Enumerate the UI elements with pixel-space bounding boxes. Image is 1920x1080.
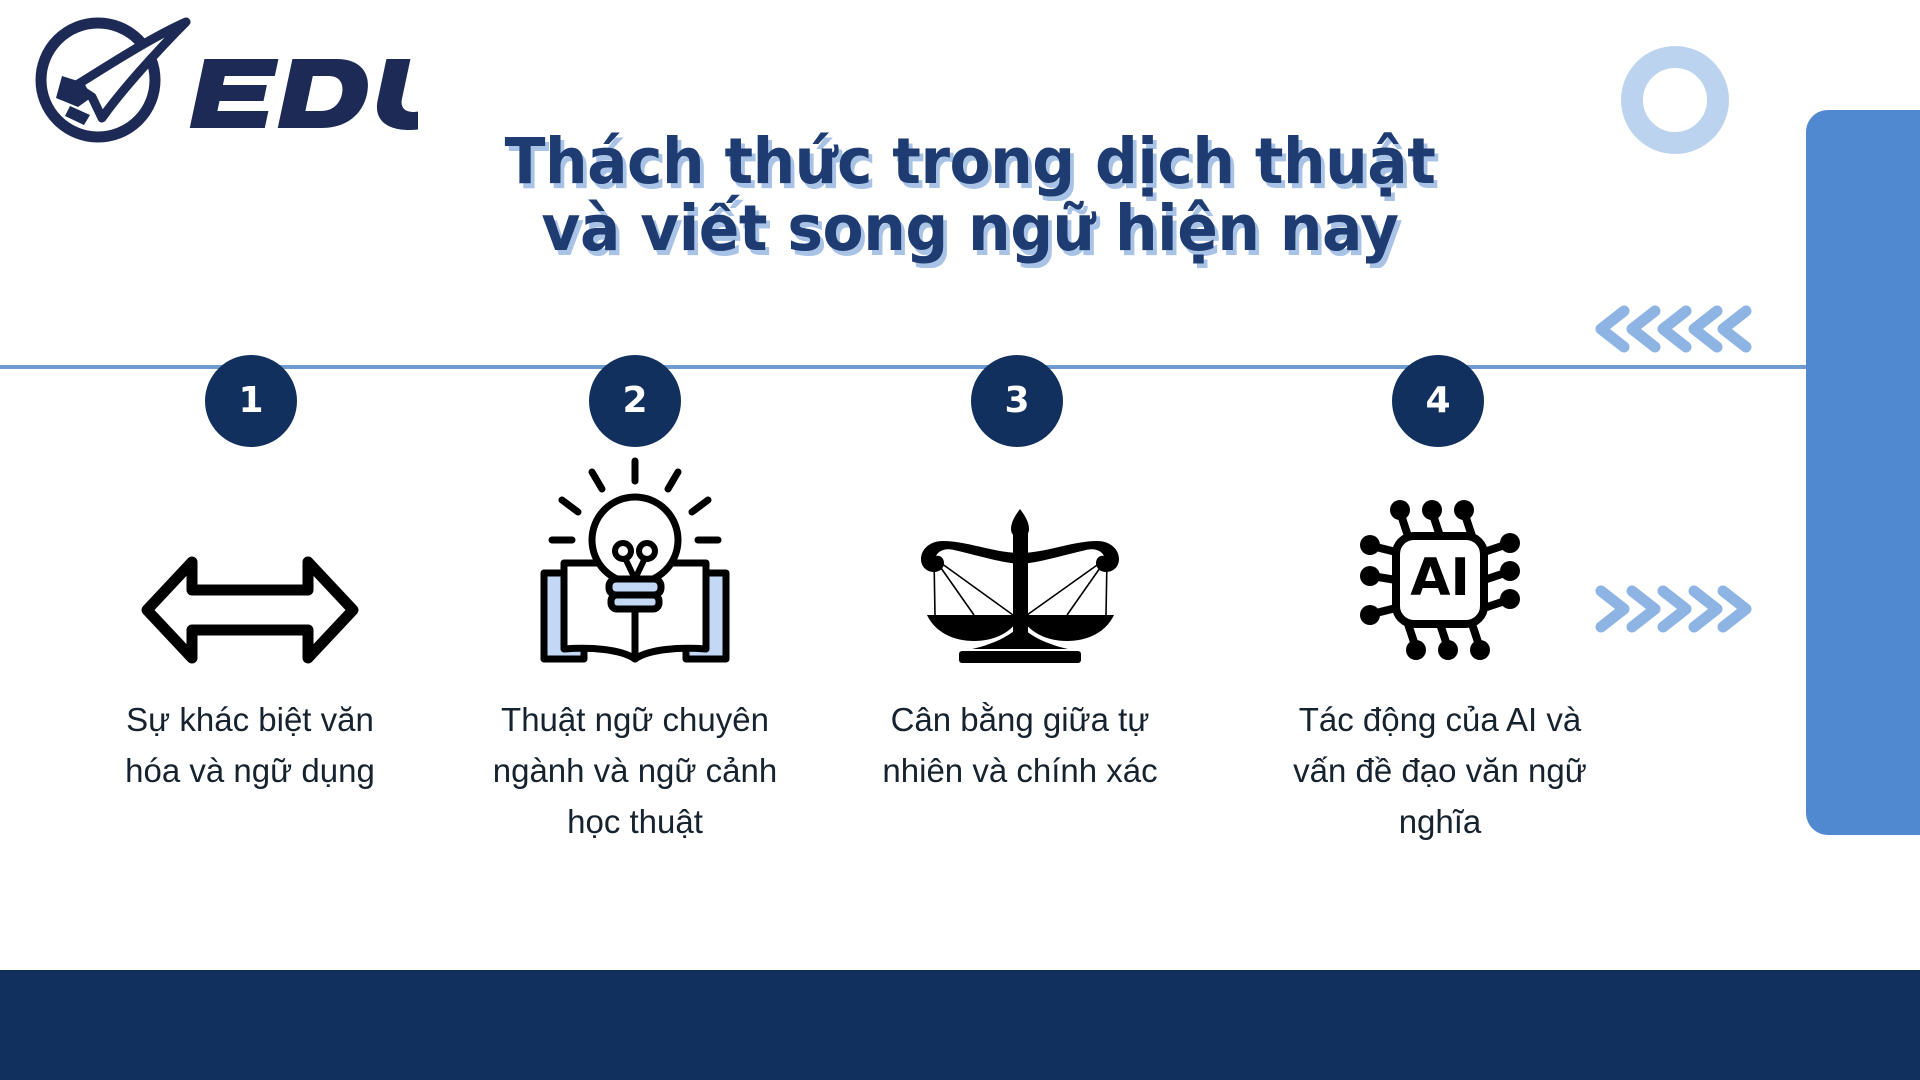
timeline-node-4-number: 4 xyxy=(1425,383,1450,419)
double-headed-arrow-icon xyxy=(135,550,365,670)
slide-canvas: Thách thức trong dịch thuật và viết song… xyxy=(0,0,1920,1080)
timeline-node-3[interactable]: 3 xyxy=(971,355,1063,447)
column-1-icon-wrap xyxy=(85,455,415,670)
page-title: Thách thức trong dịch thuật và viết song… xyxy=(370,128,1570,262)
column-2-icon-wrap xyxy=(470,455,800,670)
timeline-node-2-number: 2 xyxy=(622,383,647,419)
footer-bar xyxy=(0,970,1920,1080)
column-3: Cân bằng giữa tự nhiên và chính xác xyxy=(855,455,1185,796)
timeline-node-4[interactable]: 4 xyxy=(1392,355,1484,447)
timeline-node-1[interactable]: 1 xyxy=(205,355,297,447)
timeline-rule xyxy=(0,365,1920,369)
title-line-2: và viết song ngữ hiện nay xyxy=(400,195,1540,262)
column-1-caption: Sự khác biệt văn hóa và ngữ dụng xyxy=(85,694,415,796)
brand-logo[interactable] xyxy=(18,14,418,144)
timeline-node-1-number: 1 xyxy=(238,383,263,419)
right-accent-bar xyxy=(1806,110,1920,835)
column-4-icon-wrap: AI xyxy=(1275,455,1605,670)
column-3-icon-wrap xyxy=(855,455,1185,670)
column-4: AI Tác động của AI và vấn đề đạo văn ngữ… xyxy=(1275,455,1605,847)
decorative-ring-icon xyxy=(1621,46,1729,154)
ai-chip-icon: AI xyxy=(1350,490,1530,670)
lightbulb-open-book-icon xyxy=(530,455,740,670)
chevrons-left-icon xyxy=(1588,300,1753,358)
rocket-in-circle-icon xyxy=(18,14,418,144)
timeline-node-2[interactable]: 2 xyxy=(589,355,681,447)
balance-scale-icon xyxy=(913,505,1128,670)
column-3-caption: Cân bằng giữa tự nhiên và chính xác xyxy=(855,694,1185,796)
chevrons-right-icon xyxy=(1588,580,1753,638)
title-line-1: Thách thức trong dịch thuật xyxy=(400,128,1540,195)
column-2: Thuật ngữ chuyên ngành và ngữ cảnh học t… xyxy=(470,455,800,847)
svg-text:AI: AI xyxy=(1410,548,1470,608)
column-2-caption: Thuật ngữ chuyên ngành và ngữ cảnh học t… xyxy=(470,694,800,847)
timeline-node-3-number: 3 xyxy=(1004,383,1029,419)
column-1: Sự khác biệt văn hóa và ngữ dụng xyxy=(85,455,415,796)
column-4-caption: Tác động của AI và vấn đề đạo văn ngữ ng… xyxy=(1275,694,1605,847)
